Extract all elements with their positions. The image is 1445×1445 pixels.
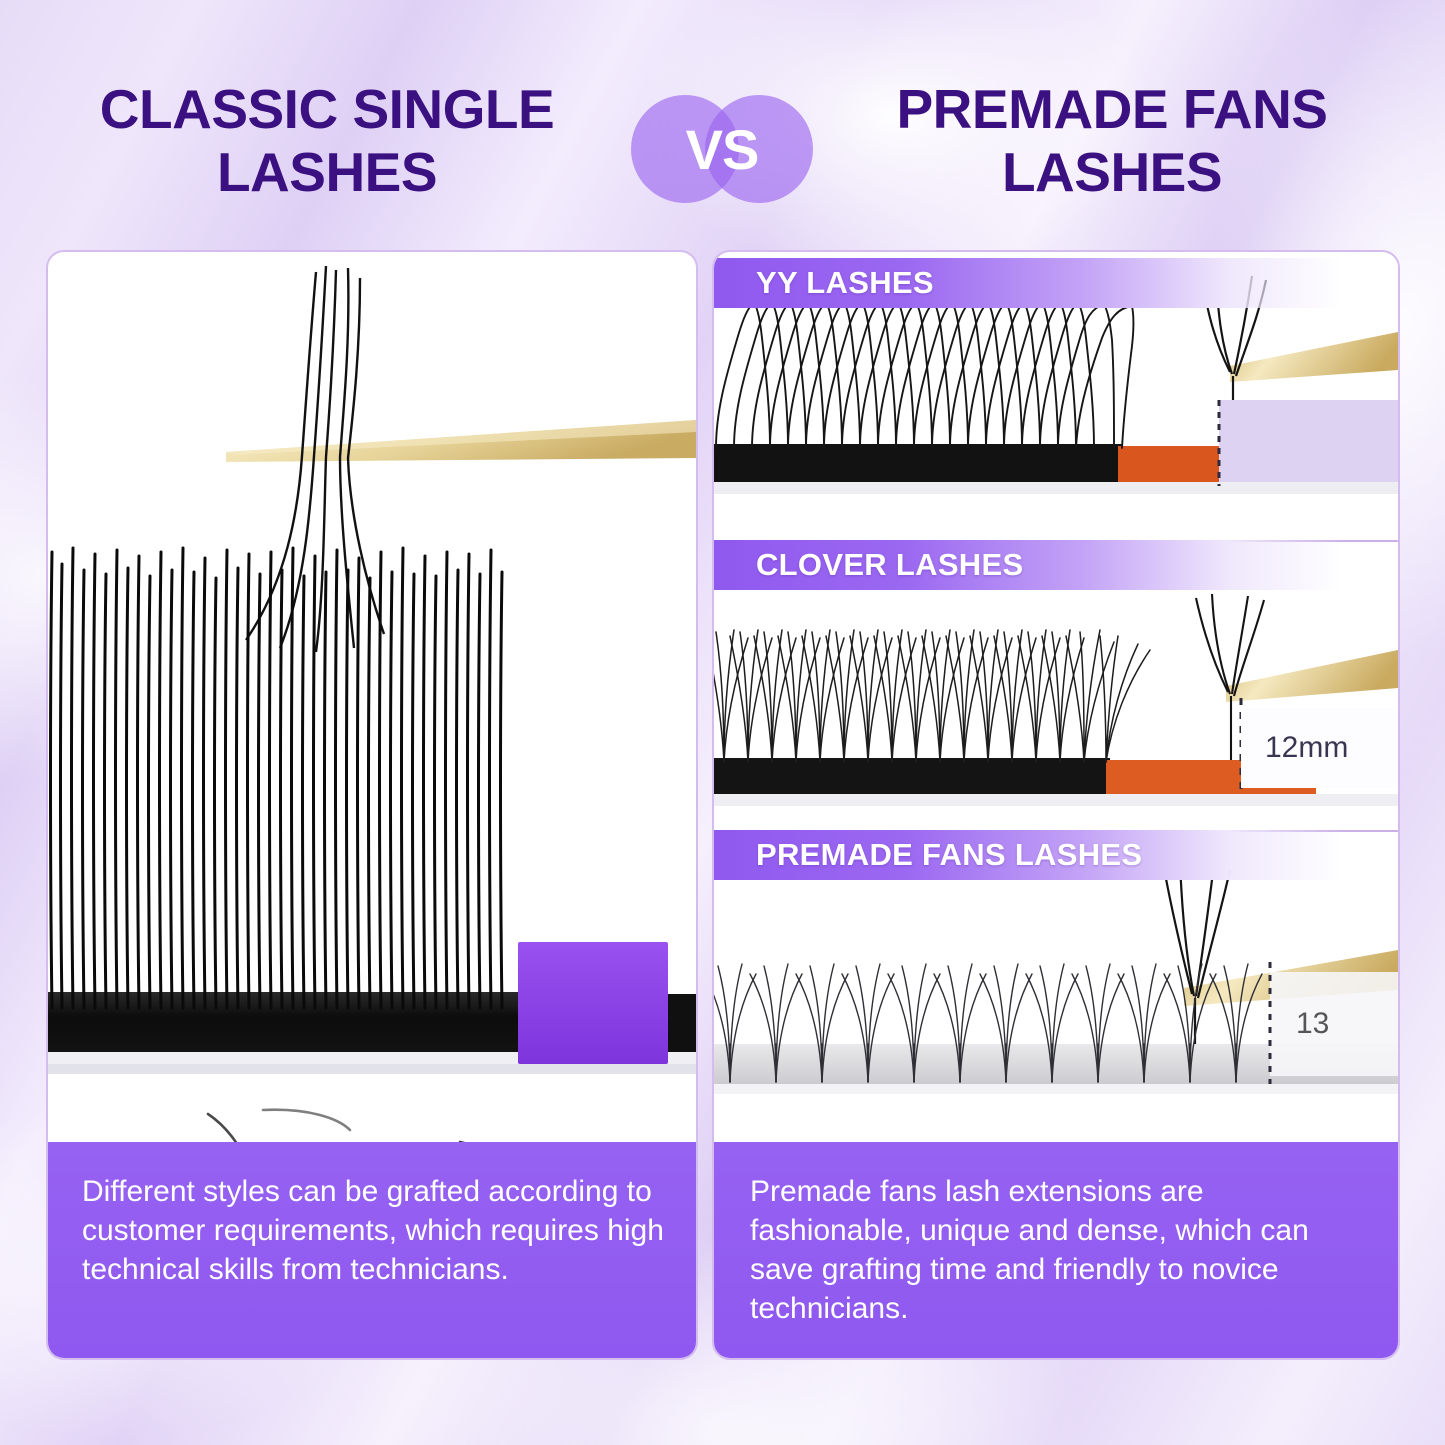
held-premade-fan <box>1164 862 1230 1072</box>
classic-lash-row <box>51 548 503 1008</box>
left-panel-caption: Different styles can be grafted accordin… <box>48 1142 696 1358</box>
panel-right-body: 13mm YY LASHES <box>714 252 1398 1358</box>
section-yy-lashes: 13mm YY LASHES <box>714 258 1398 540</box>
purple-tab <box>518 942 668 1064</box>
panel-premade-fans-lashes: 13mm YY LASHES <box>712 250 1400 1360</box>
yy-lash-row <box>716 302 1134 448</box>
yy-measurement-marker <box>1219 400 1398 486</box>
panel-left-body: Different styles can be grafted accordin… <box>48 252 696 1358</box>
label-premade-fans-lashes-text: PREMADE FANS LASHES <box>714 837 1142 873</box>
label-premade-fans-lashes: PREMADE FANS LASHES <box>714 830 1398 880</box>
clover-fan-row <box>714 630 1150 762</box>
infographic-root: CLASSIC SINGLE LASHES VS PREMADE FANS LA… <box>0 0 1445 1445</box>
vs-badge: VS <box>631 95 813 203</box>
yy-strip-black <box>714 444 1122 486</box>
label-clover-lashes: CLOVER LASHES <box>714 540 1398 590</box>
right-panel-caption: Premade fans lash extensions are fashion… <box>714 1142 1398 1358</box>
label-yy-lashes-text: YY LASHES <box>714 265 934 301</box>
clover-strip-black <box>714 758 1110 798</box>
clover-measurement-label: 12mm <box>1241 708 1398 788</box>
section-clover-lashes: 12mm CLOVER LASHES <box>714 540 1398 830</box>
tweezers-icon <box>1226 650 1398 702</box>
section-premade-fans-lashes: 13 PREMADE FANS LASHES <box>714 830 1398 1120</box>
title-premade-fans-lashes: PREMADE FANS LASHES <box>817 78 1407 203</box>
header: CLASSIC SINGLE LASHES VS PREMADE FANS LA… <box>0 0 1445 232</box>
panel-classic-single-lashes: Different styles can be grafted accordin… <box>46 250 698 1360</box>
title-classic-single-lashes: CLASSIC SINGLE LASHES <box>42 78 612 203</box>
label-clover-lashes-text: CLOVER LASHES <box>714 547 1023 583</box>
premade-measurement-label: 13 <box>1270 972 1398 1076</box>
tweezers-icon <box>226 420 696 462</box>
tweezers-icon <box>1230 332 1398 382</box>
vs-label: VS <box>631 95 813 203</box>
label-yy-lashes: YY LASHES <box>714 258 1398 308</box>
